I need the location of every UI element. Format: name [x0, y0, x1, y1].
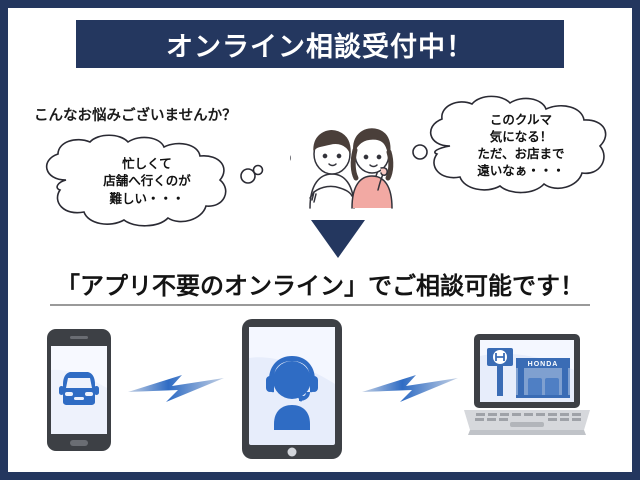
- smartphone-icon: [46, 328, 112, 452]
- device-flow-strip: HONDA: [8, 314, 632, 464]
- car-front-icon: [59, 372, 99, 405]
- thought-bubble-left-shape: [36, 136, 252, 228]
- laptop-icon: HONDA: [460, 332, 594, 442]
- lightning-bolt-icon: [126, 362, 226, 410]
- people-illustration: [290, 112, 394, 210]
- header-title: オンライン相談受付中！: [166, 25, 474, 64]
- thought-bubble-right-shape: [416, 94, 612, 198]
- tagline-underline: [50, 304, 590, 306]
- tagline-block: 「アプリ不要のオンライン」でご相談可能です！: [8, 266, 632, 301]
- tablet-icon: [241, 318, 343, 460]
- question-headline: こんなお悩みございませんか？: [34, 104, 237, 125]
- thought-bubble-right: このクルマ 気になる！ ただ、お店まで 遠いなぁ・・・: [416, 94, 612, 198]
- tagline-text: 「アプリ不要のオンライン」でご相談可能です！: [56, 273, 584, 300]
- dealership-store-name: HONDA: [528, 361, 559, 368]
- woman-hand-on-chin-figure: [352, 129, 392, 208]
- man-crossed-arms-figure: [310, 131, 354, 208]
- lightning-bolt-icon: [360, 362, 460, 410]
- triangle-down-icon: [311, 220, 365, 258]
- thought-bubble-left: 忙しくて 店舗へ行くのが 難しい・・・: [36, 136, 252, 228]
- header-banner: オンライン相談受付中！: [76, 20, 564, 68]
- poster-canvas: オンライン相談受付中！ こんなお悩みございませんか？ 忙しくて 店舗へ行くのが …: [8, 8, 632, 472]
